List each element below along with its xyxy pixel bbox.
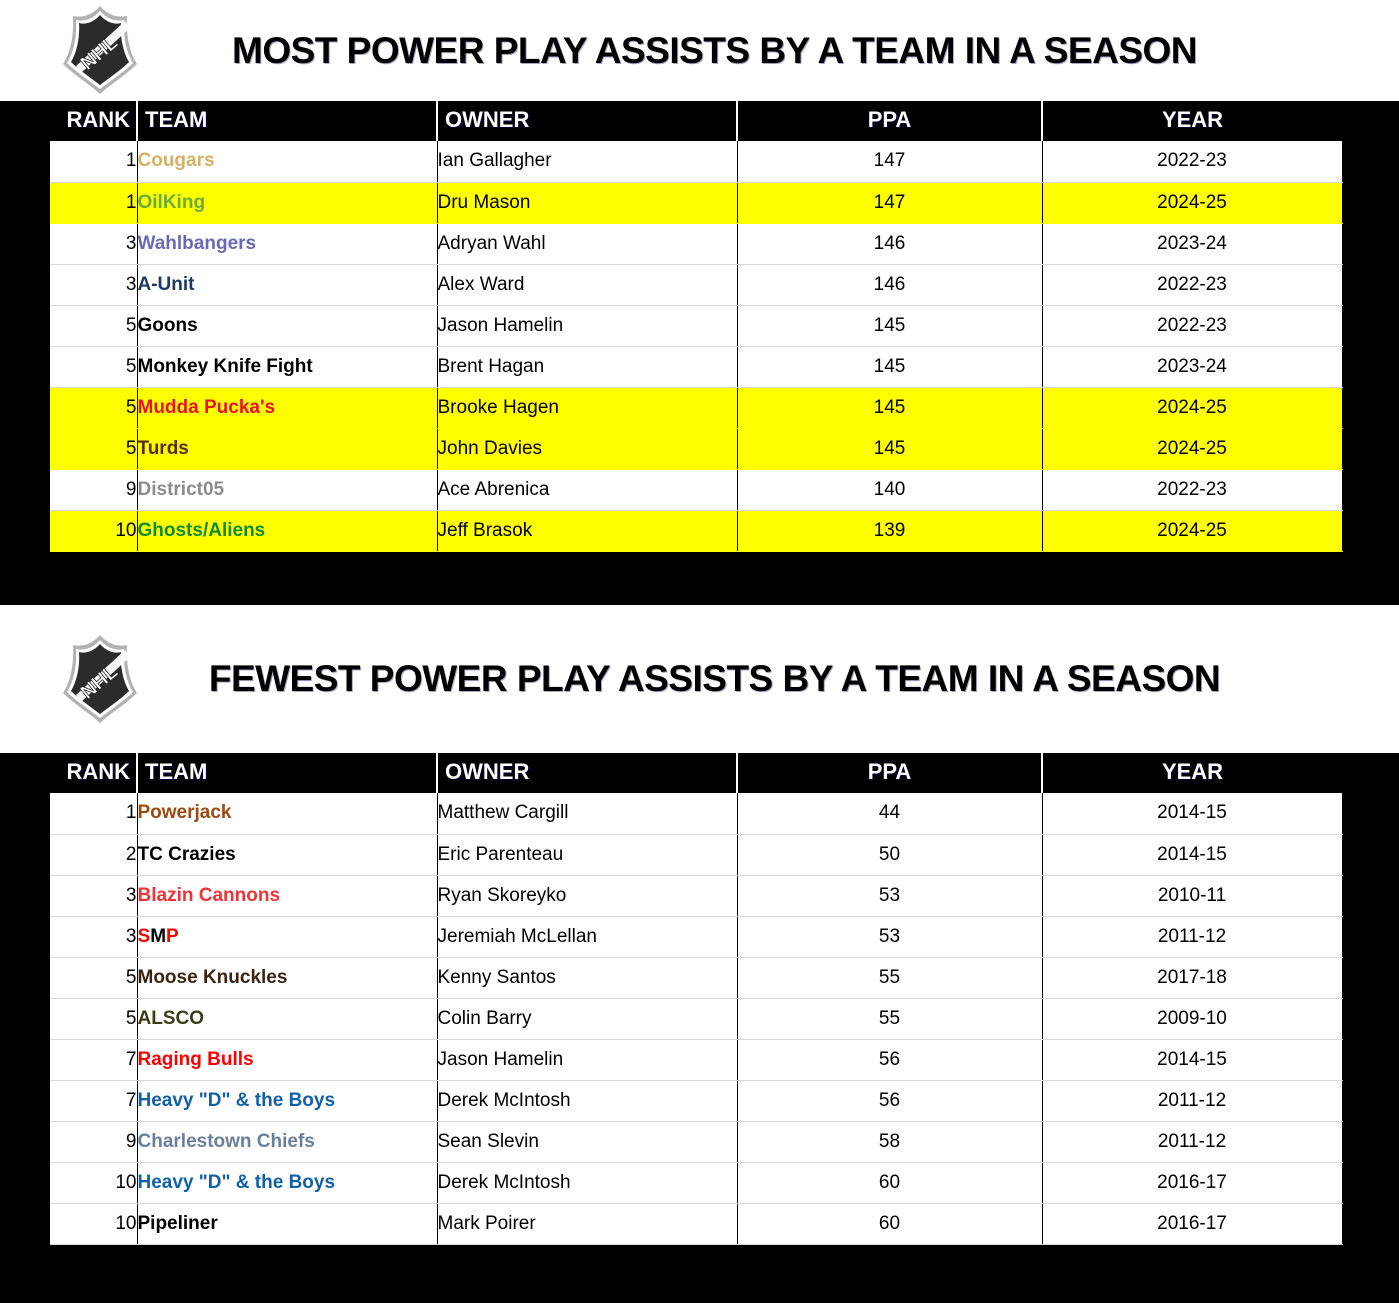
- cell-year: 2016-17: [1042, 1162, 1342, 1203]
- cell-ppa: 56: [737, 1039, 1042, 1080]
- cell-ppa: 145: [737, 346, 1042, 387]
- cell-owner: Ace Abrenica: [437, 469, 737, 510]
- table-row[interactable]: 5Mudda Pucka'sBrooke Hagen1452024-25: [0, 387, 1342, 428]
- cell-year: 2022-23: [1042, 469, 1342, 510]
- cell-owner: Matthew Cargill: [437, 793, 737, 834]
- table-row[interactable]: 9District05Ace Abrenica1402022-23: [0, 469, 1342, 510]
- section-1-title-band: NHL MOST POWER PLAY ASSISTS BY A TEAM IN…: [0, 0, 1399, 101]
- table-row[interactable]: 1PowerjackMatthew Cargill442014-15: [0, 793, 1342, 834]
- cell-ppa: 60: [737, 1162, 1042, 1203]
- cell-team: Goons: [137, 305, 437, 346]
- col-header-year[interactable]: YEAR: [1042, 753, 1342, 793]
- col-header-team[interactable]: TEAM: [137, 753, 437, 793]
- cell-owner: Ian Gallagher: [437, 141, 737, 182]
- cell-team: Blazin Cannons: [137, 875, 437, 916]
- col-header-owner[interactable]: OWNER: [437, 753, 737, 793]
- cell-owner: Sean Slevin: [437, 1121, 737, 1162]
- header-gutter-cover: [0, 101, 50, 145]
- cell-ppa: 145: [737, 387, 1042, 428]
- table-row[interactable]: 3A-UnitAlex Ward1462022-23: [0, 264, 1342, 305]
- section-1-title: MOST POWER PLAY ASSISTS BY A TEAM IN A S…: [232, 30, 1197, 72]
- cell-owner: Brooke Hagen: [437, 387, 737, 428]
- cell-year: 2009-10: [1042, 998, 1342, 1039]
- cell-ppa: 145: [737, 428, 1042, 469]
- cell-owner: Kenny Santos: [437, 957, 737, 998]
- cell-year: 2014-15: [1042, 1039, 1342, 1080]
- cell-owner: Jeremiah McLellan: [437, 916, 737, 957]
- left-black-gutter: [0, 753, 50, 1245]
- cell-team: OilKing: [137, 182, 437, 223]
- cell-ppa: 55: [737, 998, 1042, 1039]
- cell-owner: Dru Mason: [437, 182, 737, 223]
- cell-ppa: 53: [737, 916, 1042, 957]
- cell-year: 2010-11: [1042, 875, 1342, 916]
- section-1-table-wrap: RANK TEAM OWNER PPA YEAR 1CougarsIan Gal…: [0, 101, 1399, 552]
- cell-team: TC Crazies: [137, 834, 437, 875]
- cell-owner: Adryan Wahl: [437, 223, 737, 264]
- cell-year: 2014-15: [1042, 793, 1342, 834]
- table-row[interactable]: 3WahlbangersAdryan Wahl1462023-24: [0, 223, 1342, 264]
- table-row[interactable]: 2TC CraziesEric Parenteau502014-15: [0, 834, 1342, 875]
- cell-owner: Alex Ward: [437, 264, 737, 305]
- cell-year: 2014-15: [1042, 834, 1342, 875]
- cell-team: Powerjack: [137, 793, 437, 834]
- cell-team: Moose Knuckles: [137, 957, 437, 998]
- table-row[interactable]: 3Blazin CannonsRyan Skoreyko532010-11: [0, 875, 1342, 916]
- cell-owner: Ryan Skoreyko: [437, 875, 737, 916]
- cell-year: 2011-12: [1042, 1080, 1342, 1121]
- table-row[interactable]: 3SMPJeremiah McLellan532011-12: [0, 916, 1342, 957]
- cell-team: Wahlbangers: [137, 223, 437, 264]
- col-header-team[interactable]: TEAM: [137, 101, 437, 141]
- cell-ppa: 60: [737, 1203, 1042, 1244]
- table-row[interactable]: 5Monkey Knife FightBrent Hagan1452023-24: [0, 346, 1342, 387]
- table-row[interactable]: 5TurdsJohn Davies1452024-25: [0, 428, 1342, 469]
- table-body: 1PowerjackMatthew Cargill442014-152TC Cr…: [0, 793, 1342, 1244]
- cell-ppa: 145: [737, 305, 1042, 346]
- section-fewest-power-play-assists: NHL FEWEST POWER PLAY ASSISTS BY A TEAM …: [0, 605, 1399, 1245]
- cell-ppa: 147: [737, 182, 1042, 223]
- nhl-shield-logo: NHL: [45, 631, 155, 727]
- cell-team: Heavy "D" & the Boys: [137, 1162, 437, 1203]
- table-most-power-play-assists: RANK TEAM OWNER PPA YEAR 1CougarsIan Gal…: [0, 101, 1343, 552]
- cell-owner: John Davies: [437, 428, 737, 469]
- cell-owner: Eric Parenteau: [437, 834, 737, 875]
- cell-ppa: 146: [737, 264, 1042, 305]
- table-row[interactable]: 10PipelinerMark Poirer602016-17: [0, 1203, 1342, 1244]
- cell-ppa: 53: [737, 875, 1042, 916]
- cell-year: 2017-18: [1042, 957, 1342, 998]
- cell-year: 2023-24: [1042, 223, 1342, 264]
- cell-team: A-Unit: [137, 264, 437, 305]
- cell-year: 2016-17: [1042, 1203, 1342, 1244]
- cell-owner: Brent Hagan: [437, 346, 737, 387]
- table-row[interactable]: 9Charlestown ChiefsSean Slevin582011-12: [0, 1121, 1342, 1162]
- cell-year: 2023-24: [1042, 346, 1342, 387]
- section-2-title-band: NHL FEWEST POWER PLAY ASSISTS BY A TEAM …: [0, 605, 1399, 753]
- table-row[interactable]: 7Heavy "D" & the BoysDerek McIntosh56201…: [0, 1080, 1342, 1121]
- cell-ppa: 140: [737, 469, 1042, 510]
- cell-year: 2022-23: [1042, 305, 1342, 346]
- table-header-row: RANK TEAM OWNER PPA YEAR: [0, 101, 1342, 141]
- cell-owner: Jeff Brasok: [437, 510, 737, 551]
- cell-team: Charlestown Chiefs: [137, 1121, 437, 1162]
- table-header-row: RANK TEAM OWNER PPA YEAR: [0, 753, 1342, 793]
- stats-page: NHL MOST POWER PLAY ASSISTS BY A TEAM IN…: [0, 0, 1399, 1303]
- cell-team: ALSCO: [137, 998, 437, 1039]
- cell-year: 2024-25: [1042, 510, 1342, 551]
- col-header-owner[interactable]: OWNER: [437, 101, 737, 141]
- table-row[interactable]: 1OilKingDru Mason1472024-25: [0, 182, 1342, 223]
- section-most-power-play-assists: NHL MOST POWER PLAY ASSISTS BY A TEAM IN…: [0, 0, 1399, 552]
- table-row[interactable]: 5GoonsJason Hamelin1452022-23: [0, 305, 1342, 346]
- table-row[interactable]: 1CougarsIan Gallagher1472022-23: [0, 141, 1342, 182]
- cell-ppa: 56: [737, 1080, 1042, 1121]
- cell-owner: Jason Hamelin: [437, 1039, 737, 1080]
- cell-owner: Jason Hamelin: [437, 305, 737, 346]
- cell-ppa: 139: [737, 510, 1042, 551]
- section-2-title: FEWEST POWER PLAY ASSISTS BY A TEAM IN A…: [209, 658, 1220, 700]
- table-row[interactable]: 10Heavy "D" & the BoysDerek McIntosh6020…: [0, 1162, 1342, 1203]
- cell-team: Monkey Knife Fight: [137, 346, 437, 387]
- cell-ppa: 146: [737, 223, 1042, 264]
- cell-ppa: 50: [737, 834, 1042, 875]
- table-row[interactable]: 5ALSCOColin Barry552009-10: [0, 998, 1342, 1039]
- cell-owner: Derek McIntosh: [437, 1080, 737, 1121]
- cell-team: Pipeliner: [137, 1203, 437, 1244]
- cell-team: Cougars: [137, 141, 437, 182]
- cell-year: 2011-12: [1042, 916, 1342, 957]
- cell-team: District05: [137, 469, 437, 510]
- cell-year: 2024-25: [1042, 387, 1342, 428]
- left-black-gutter: [0, 101, 50, 552]
- cell-year: 2024-25: [1042, 182, 1342, 223]
- table-fewest-power-play-assists: RANK TEAM OWNER PPA YEAR 1PowerjackMatth…: [0, 753, 1343, 1245]
- header-gutter-cover: [0, 753, 50, 797]
- cell-team: Heavy "D" & the Boys: [137, 1080, 437, 1121]
- cell-ppa: 44: [737, 793, 1042, 834]
- cell-owner: Mark Poirer: [437, 1203, 737, 1244]
- table-row[interactable]: 7Raging BullsJason Hamelin562014-15: [0, 1039, 1342, 1080]
- table-body: 1CougarsIan Gallagher1472022-231OilKingD…: [0, 141, 1342, 551]
- cell-year: 2022-23: [1042, 264, 1342, 305]
- cell-year: 2011-12: [1042, 1121, 1342, 1162]
- cell-team: Ghosts/Aliens: [137, 510, 437, 551]
- cell-team: Turds: [137, 428, 437, 469]
- cell-year: 2022-23: [1042, 141, 1342, 182]
- cell-team: Raging Bulls: [137, 1039, 437, 1080]
- table-row[interactable]: 10Ghosts/AliensJeff Brasok1392024-25: [0, 510, 1342, 551]
- cell-ppa: 147: [737, 141, 1042, 182]
- section-2-table-wrap: RANK TEAM OWNER PPA YEAR 1PowerjackMatth…: [0, 753, 1399, 1245]
- cell-team: SMP: [137, 916, 437, 957]
- nhl-shield-logo: NHL: [45, 2, 155, 98]
- cell-team: Mudda Pucka's: [137, 387, 437, 428]
- col-header-ppa[interactable]: PPA: [737, 101, 1042, 141]
- cell-year: 2024-25: [1042, 428, 1342, 469]
- cell-ppa: 58: [737, 1121, 1042, 1162]
- col-header-year[interactable]: YEAR: [1042, 101, 1342, 141]
- col-header-ppa[interactable]: PPA: [737, 753, 1042, 793]
- cell-ppa: 55: [737, 957, 1042, 998]
- cell-owner: Derek McIntosh: [437, 1162, 737, 1203]
- table-row[interactable]: 5Moose KnucklesKenny Santos552017-18: [0, 957, 1342, 998]
- cell-owner: Colin Barry: [437, 998, 737, 1039]
